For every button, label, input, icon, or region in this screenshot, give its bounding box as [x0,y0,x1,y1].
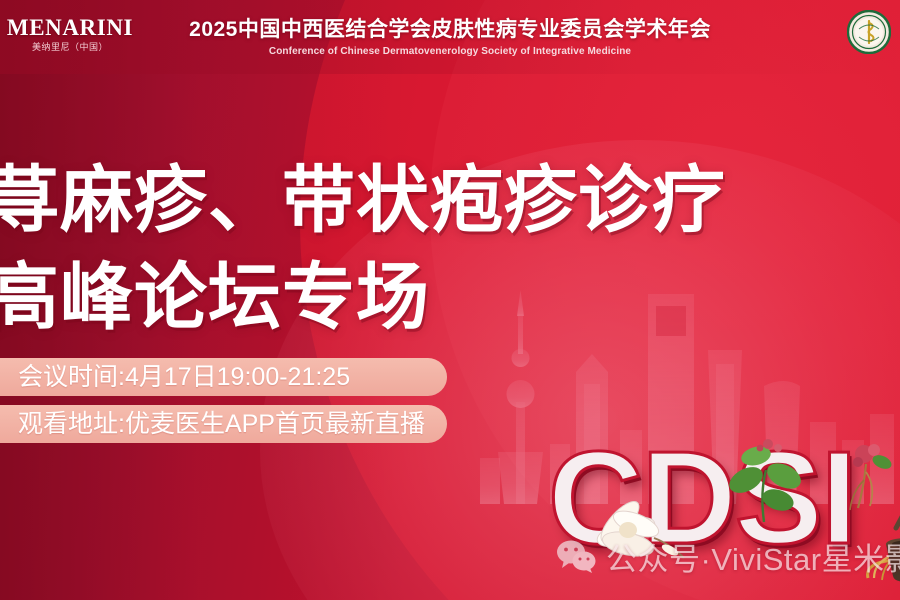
headline-block: 荨麻疹、带状疱疹诊疗 高峰论坛专场 [0,152,846,346]
menarini-logo: MENARINI 美纳里尼（中国） [4,16,136,52]
logo-wordmark: MENARINI [4,16,136,39]
watermark-text: 公众号·ViviStar星米影 [606,534,900,579]
logo-subtitle: 美纳里尼（中国） [4,43,136,52]
info-pill-group: 会议时间:4月17日19:00-21:25 观看地址:优麦医生APP首页最新直播 [0,358,447,443]
headline-line-1: 荨麻疹、带状疱疹诊疗 [0,152,846,249]
headline-line-2: 高峰论坛专场 [0,249,846,346]
wechat-watermark: 公众号·ViviStar星米影 [556,534,900,578]
info-pill-meeting-time: 会议时间:4月17日19:00-21:25 [0,358,447,396]
society-emblem-icon [847,10,891,54]
header-bar: MENARINI 美纳里尼（中国） 2025中国中西医结合学会皮肤性病专业委员会… [0,0,900,74]
conference-banner: MENARINI 美纳里尼（中国） 2025中国中西医结合学会皮肤性病专业委员会… [0,0,900,600]
wechat-icon [556,539,596,573]
info-pill-watch-address: 观看地址:优麦医生APP首页最新直播 [0,405,447,443]
